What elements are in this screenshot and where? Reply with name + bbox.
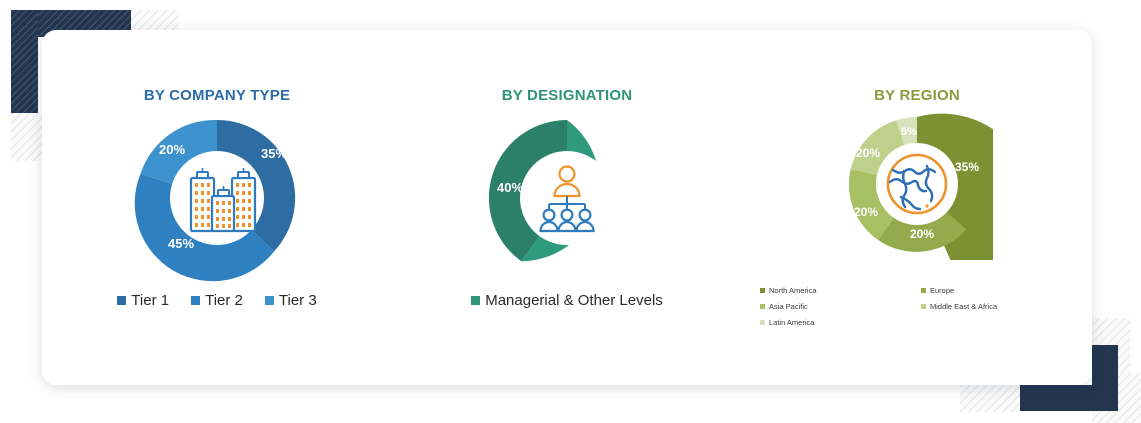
legend-item-managerial[interactable]: Managerial & Other Levels — [471, 292, 663, 309]
panel-region: BY REGION — [742, 30, 1092, 385]
legend-item-north-america[interactable]: North America — [760, 286, 921, 295]
legend-label: Tier 2 — [205, 292, 243, 309]
panel-title-region: BY REGION — [742, 87, 1092, 104]
slice-label-tier-3: 20% — [159, 142, 185, 157]
slice-label-north-america: 35% — [955, 160, 979, 174]
donut-chart-region: 35% 20% 20% 20% 5% — [841, 108, 993, 260]
donut-company-svg: 35% 45% 20% — [129, 110, 305, 286]
slice-label-tier-1: 35% — [261, 146, 287, 161]
legend-swatch-icon — [760, 320, 765, 325]
legend-item-tier-1[interactable]: Tier 1 — [117, 292, 169, 309]
legend-item-tier-2[interactable]: Tier 2 — [191, 292, 243, 309]
content-card: BY COMPANY TYPE — [42, 30, 1092, 385]
infographic-canvas: BY COMPANY TYPE — [0, 0, 1141, 423]
legend-swatch-icon — [921, 288, 926, 293]
decor-corner-top-left-stem — [11, 10, 38, 113]
legend-item-asia-pacific[interactable]: Asia Pacific — [760, 302, 921, 311]
legend-company-type: Tier 1 Tier 2 Tier 3 — [42, 292, 392, 309]
legend-swatch-icon — [191, 296, 200, 305]
donut-region-svg: 35% 20% 20% 20% 5% — [841, 108, 993, 260]
decor-hatch-square-bottom — [960, 385, 1020, 412]
donut-designation-svg: 60% 40% — [479, 110, 655, 286]
donut-chart-company-type: 35% 45% 20% — [129, 110, 305, 286]
legend-swatch-icon — [760, 288, 765, 293]
panel-title-company-type: BY COMPANY TYPE — [42, 87, 392, 104]
legend-swatch-icon — [760, 304, 765, 309]
slice-label-40: 40% — [497, 180, 523, 195]
donut-chart-designation: 60% 40% — [479, 110, 655, 286]
legend-swatch-icon — [117, 296, 126, 305]
panel-designation: BY DESIGNATION — [392, 30, 742, 385]
slice-label-latin-america: 5% — [901, 126, 917, 138]
legend-label: Europe — [930, 286, 954, 295]
slice-label-tier-2: 45% — [168, 236, 194, 251]
legend-label: Tier 3 — [279, 292, 317, 309]
legend-item-latin-america[interactable]: Latin America — [760, 318, 921, 327]
legend-designation: Managerial & Other Levels — [392, 292, 742, 309]
slice-label-europe: 20% — [910, 227, 934, 241]
legend-item-tier-3[interactable]: Tier 3 — [265, 292, 317, 309]
legend-label: North America — [769, 286, 817, 295]
legend-item-middle-east-africa[interactable]: Middle East & Africa — [921, 302, 1082, 311]
slice-label-60: 60% — [614, 197, 640, 212]
legend-swatch-icon — [921, 304, 926, 309]
legend-swatch-icon — [265, 296, 274, 305]
slice-label-asia-pacific: 20% — [854, 205, 878, 219]
slice-label-middle-east-africa: 20% — [856, 146, 880, 160]
legend-label: Latin America — [769, 318, 814, 327]
legend-swatch-icon — [471, 296, 480, 305]
legend-label: Tier 1 — [131, 292, 169, 309]
legend-label: Middle East & Africa — [930, 302, 997, 311]
chart-panels: BY COMPANY TYPE — [42, 30, 1092, 385]
panel-company-type: BY COMPANY TYPE — [42, 30, 392, 385]
legend-label: Asia Pacific — [769, 302, 808, 311]
panel-title-designation: BY DESIGNATION — [392, 87, 742, 104]
legend-label: Managerial & Other Levels — [485, 292, 663, 309]
legend-item-europe[interactable]: Europe — [921, 286, 1082, 295]
decor-corner-bottom-right-stem — [1092, 345, 1118, 411]
legend-region: North America Europe Asia Pacific Middle… — [760, 286, 1082, 334]
